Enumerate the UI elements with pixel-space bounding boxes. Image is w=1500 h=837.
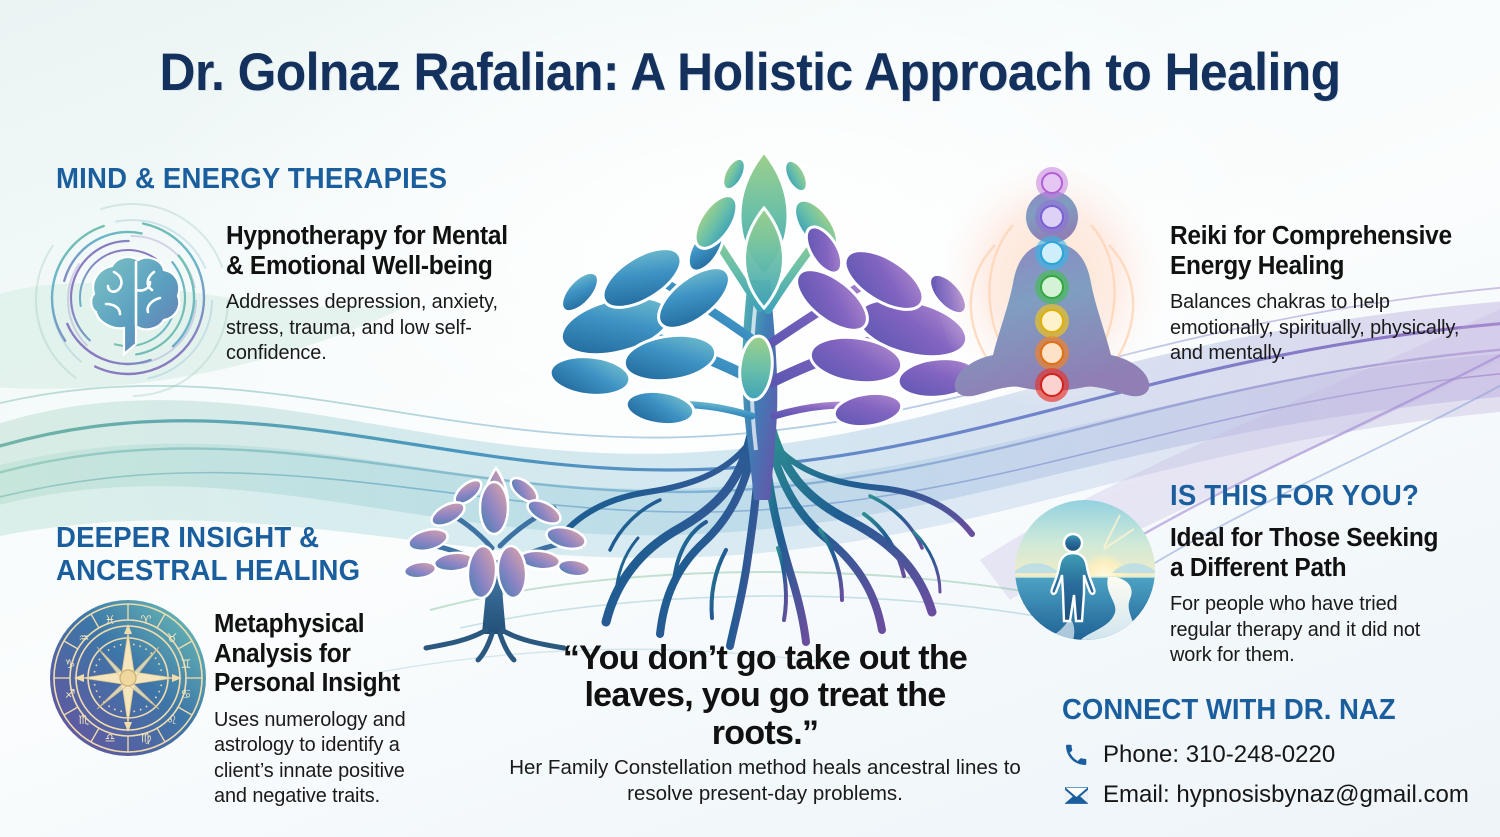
svg-text:♊: ♊ [181, 657, 192, 671]
contact-phone-row[interactable]: Phone: 310-248-0220 [1062, 741, 1335, 769]
contact-email-row[interactable]: Email: hypnosisbynaz@gmail.com [1062, 781, 1469, 809]
contact-phone-text: Phone: 310-248-0220 [1103, 741, 1335, 769]
svg-text:♉: ♉ [167, 631, 178, 645]
card-metaphysical-body: Uses numerology and astrology to identif… [214, 707, 425, 809]
contact-email-text: Email: hypnosisbynaz@gmail.com [1103, 781, 1469, 809]
kicker-is-this-for-you: IS THIS FOR YOU? [1170, 480, 1419, 513]
card-hypnotherapy: Hypnotherapy for Mental & Emotional Well… [226, 222, 538, 365]
infographic-poster: Dr. Golnaz Rafalian: A Holistic Approach… [0, 0, 1500, 837]
card-hypnotherapy-body: Addresses depression, anxiety, stress, t… [226, 289, 529, 365]
chakra-figure-icon [935, 155, 1170, 420]
chakra-heart [1035, 270, 1069, 304]
center-quote: “You don’t go take out the leaves, you g… [555, 640, 975, 752]
svg-text:♏: ♏ [79, 713, 90, 727]
brain-icon [46, 216, 210, 380]
zodiac-wheel-icon: ♈ ♉ ♊ ♋ ♌ ♍ ♎ ♏ ♐ ♑ ♒ ♓ [48, 598, 208, 758]
card-metaphysical-heading: Metaphysical Analysis for Personal Insig… [214, 610, 423, 699]
svg-text:♒: ♒ [79, 631, 90, 645]
svg-text:♐: ♐ [65, 687, 76, 701]
card-reiki: Reiki for Comprehensive Energy Healing B… [1170, 222, 1470, 365]
card-different-path: Ideal for Those Seeking a Different Path… [1170, 524, 1460, 667]
svg-text:♑: ♑ [65, 657, 76, 671]
svg-text:♍: ♍ [141, 731, 152, 745]
svg-text:♎: ♎ [105, 731, 116, 745]
page-title: Dr. Golnaz Rafalian: A Holistic Approach… [45, 42, 1455, 103]
card-different-path-body: For people who have tried regular therap… [1170, 591, 1451, 667]
chakra-root [1035, 368, 1069, 402]
card-different-path-heading: Ideal for Those Seeking a Different Path [1170, 524, 1448, 583]
chakra-sacral [1035, 336, 1069, 370]
contact-heading: CONNECT WITH DR. NAZ [1062, 694, 1396, 727]
kicker-deeper-insight: DEEPER INSIGHT & ANCESTRAL HEALING [56, 522, 436, 589]
svg-text:♌: ♌ [167, 713, 178, 727]
svg-text:♋: ♋ [181, 687, 192, 701]
person-on-path-icon [1012, 497, 1158, 643]
envelope-icon [1062, 783, 1090, 807]
card-reiki-body: Balances chakras to help emotionally, sp… [1170, 289, 1461, 365]
phone-icon [1062, 743, 1090, 767]
card-reiki-heading: Reiki for Comprehensive Energy Healing [1170, 222, 1458, 281]
chakra-solar-plexus [1035, 304, 1069, 338]
chakra-throat [1035, 236, 1069, 270]
chakra-crown [1036, 167, 1068, 199]
svg-text:♈: ♈ [141, 613, 152, 627]
center-quote-caption: Her Family Constellation method heals an… [500, 755, 1030, 806]
kicker-mind-energy: MIND & ENERGY THERAPIES [56, 163, 447, 196]
card-hypnotherapy-heading: Hypnotherapy for Mental & Emotional Well… [226, 222, 526, 281]
chakra-third-eye [1035, 200, 1069, 234]
card-metaphysical: Metaphysical Analysis for Personal Insig… [214, 610, 432, 808]
svg-text:♓: ♓ [105, 613, 116, 627]
